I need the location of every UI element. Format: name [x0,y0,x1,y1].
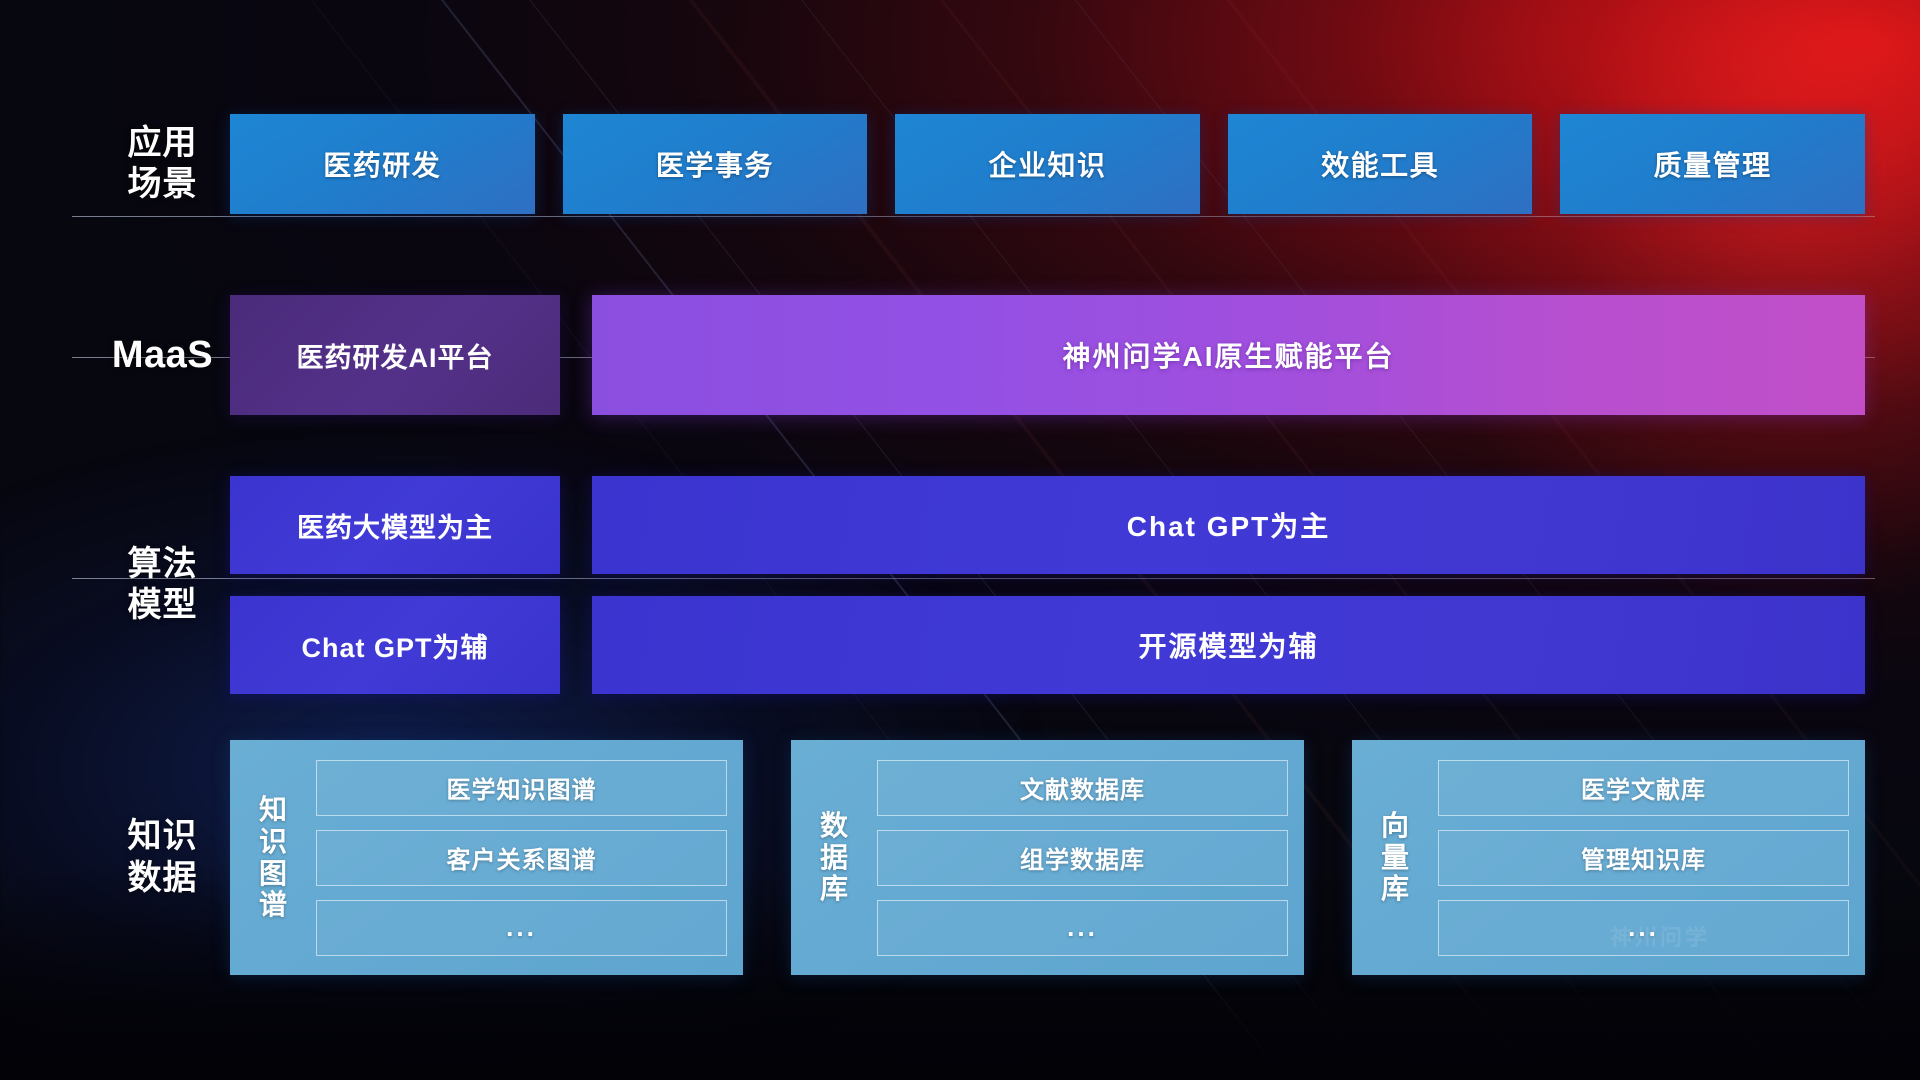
maas-card-group: 医药研发AI平台 神州问学AI原生赋能平台 [230,295,1865,415]
tier-algorithm: 算法 模型 医药大模型为主 Chat GPT为主 Chat GPT为辅 开源模型… [95,460,1865,710]
app-card-medicine-rd[interactable]: 医药研发 [230,114,535,214]
algo-card-medicine-llm-primary[interactable]: 医药大模型为主 [230,476,560,574]
knowledge-panel-title-vector: 向 量 库 [1364,810,1426,906]
knowledge-item-management-knowledge[interactable]: 管理知识库 [1438,830,1849,886]
tier-label-knowledge: 知识 数据 [95,816,230,899]
tier-label-algorithm: 算法 模型 [95,544,230,627]
maas-card-medicine-ai-platform[interactable]: 医药研发AI平台 [230,295,560,415]
tier-label-maas: MaaS [95,332,230,378]
knowledge-item-customer-graph[interactable]: 客户关系图谱 [316,830,727,886]
app-card-enterprise-knowledge[interactable]: 企业知识 [895,114,1200,214]
knowledge-panel-vector-store[interactable]: 向 量 库 医学文献库 管理知识库 ... [1352,740,1865,975]
application-card-group: 医药研发 医学事务 企业知识 效能工具 质量管理 [230,114,1865,214]
algo-card-chatgpt-primary[interactable]: Chat GPT为主 [592,476,1865,574]
knowledge-item-list-graph: 医学知识图谱 客户关系图谱 ... [316,754,727,961]
app-card-efficiency-tools[interactable]: 效能工具 [1228,114,1533,214]
tier-knowledge: 知识 数据 知 识 图 谱 医学知识图谱 客户关系图谱 ... 数 据 库 文献… [95,735,1865,980]
knowledge-panel-title-graph: 知 识 图 谱 [242,794,304,922]
knowledge-item-list-vector: 医学文献库 管理知识库 ... [1438,754,1849,961]
knowledge-panel-group: 知 识 图 谱 医学知识图谱 客户关系图谱 ... 数 据 库 文献数据库 组学… [230,740,1865,975]
knowledge-item-more-database[interactable]: ... [877,900,1288,956]
knowledge-item-medical-graph[interactable]: 医学知识图谱 [316,760,727,816]
algorithm-row-primary: 医药大模型为主 Chat GPT为主 [230,476,1865,574]
knowledge-panel-database[interactable]: 数 据 库 文献数据库 组学数据库 ... [791,740,1304,975]
knowledge-panel-title-database: 数 据 库 [803,810,865,906]
knowledge-item-more-graph[interactable]: ... [316,900,727,956]
algorithm-card-group: 医药大模型为主 Chat GPT为主 Chat GPT为辅 开源模型为辅 [230,476,1865,694]
knowledge-item-more-vector[interactable]: ... [1438,900,1849,956]
app-card-quality-management[interactable]: 质量管理 [1560,114,1865,214]
algo-card-opensource-secondary[interactable]: 开源模型为辅 [592,596,1865,694]
knowledge-item-omics-db[interactable]: 组学数据库 [877,830,1288,886]
tier-maas: MaaS 医药研发AI平台 神州问学AI原生赋能平台 [95,290,1865,420]
algo-card-chatgpt-secondary[interactable]: Chat GPT为辅 [230,596,560,694]
app-card-medical-affairs[interactable]: 医学事务 [563,114,868,214]
tier-label-application: 应用 场景 [95,123,230,206]
knowledge-item-list-database: 文献数据库 组学数据库 ... [877,754,1288,961]
tier-application: 应用 场景 医药研发 医学事务 企业知识 效能工具 质量管理 [95,104,1865,224]
algorithm-row-secondary: Chat GPT为辅 开源模型为辅 [230,596,1865,694]
maas-card-shenzhou-wenxue-platform[interactable]: 神州问学AI原生赋能平台 [592,295,1865,415]
architecture-diagram: 应用 场景 医药研发 医学事务 企业知识 效能工具 质量管理 MaaS 医药研发… [0,0,1920,1080]
knowledge-panel-knowledge-graph[interactable]: 知 识 图 谱 医学知识图谱 客户关系图谱 ... [230,740,743,975]
knowledge-item-literature-db[interactable]: 文献数据库 [877,760,1288,816]
knowledge-item-medical-literature[interactable]: 医学文献库 [1438,760,1849,816]
